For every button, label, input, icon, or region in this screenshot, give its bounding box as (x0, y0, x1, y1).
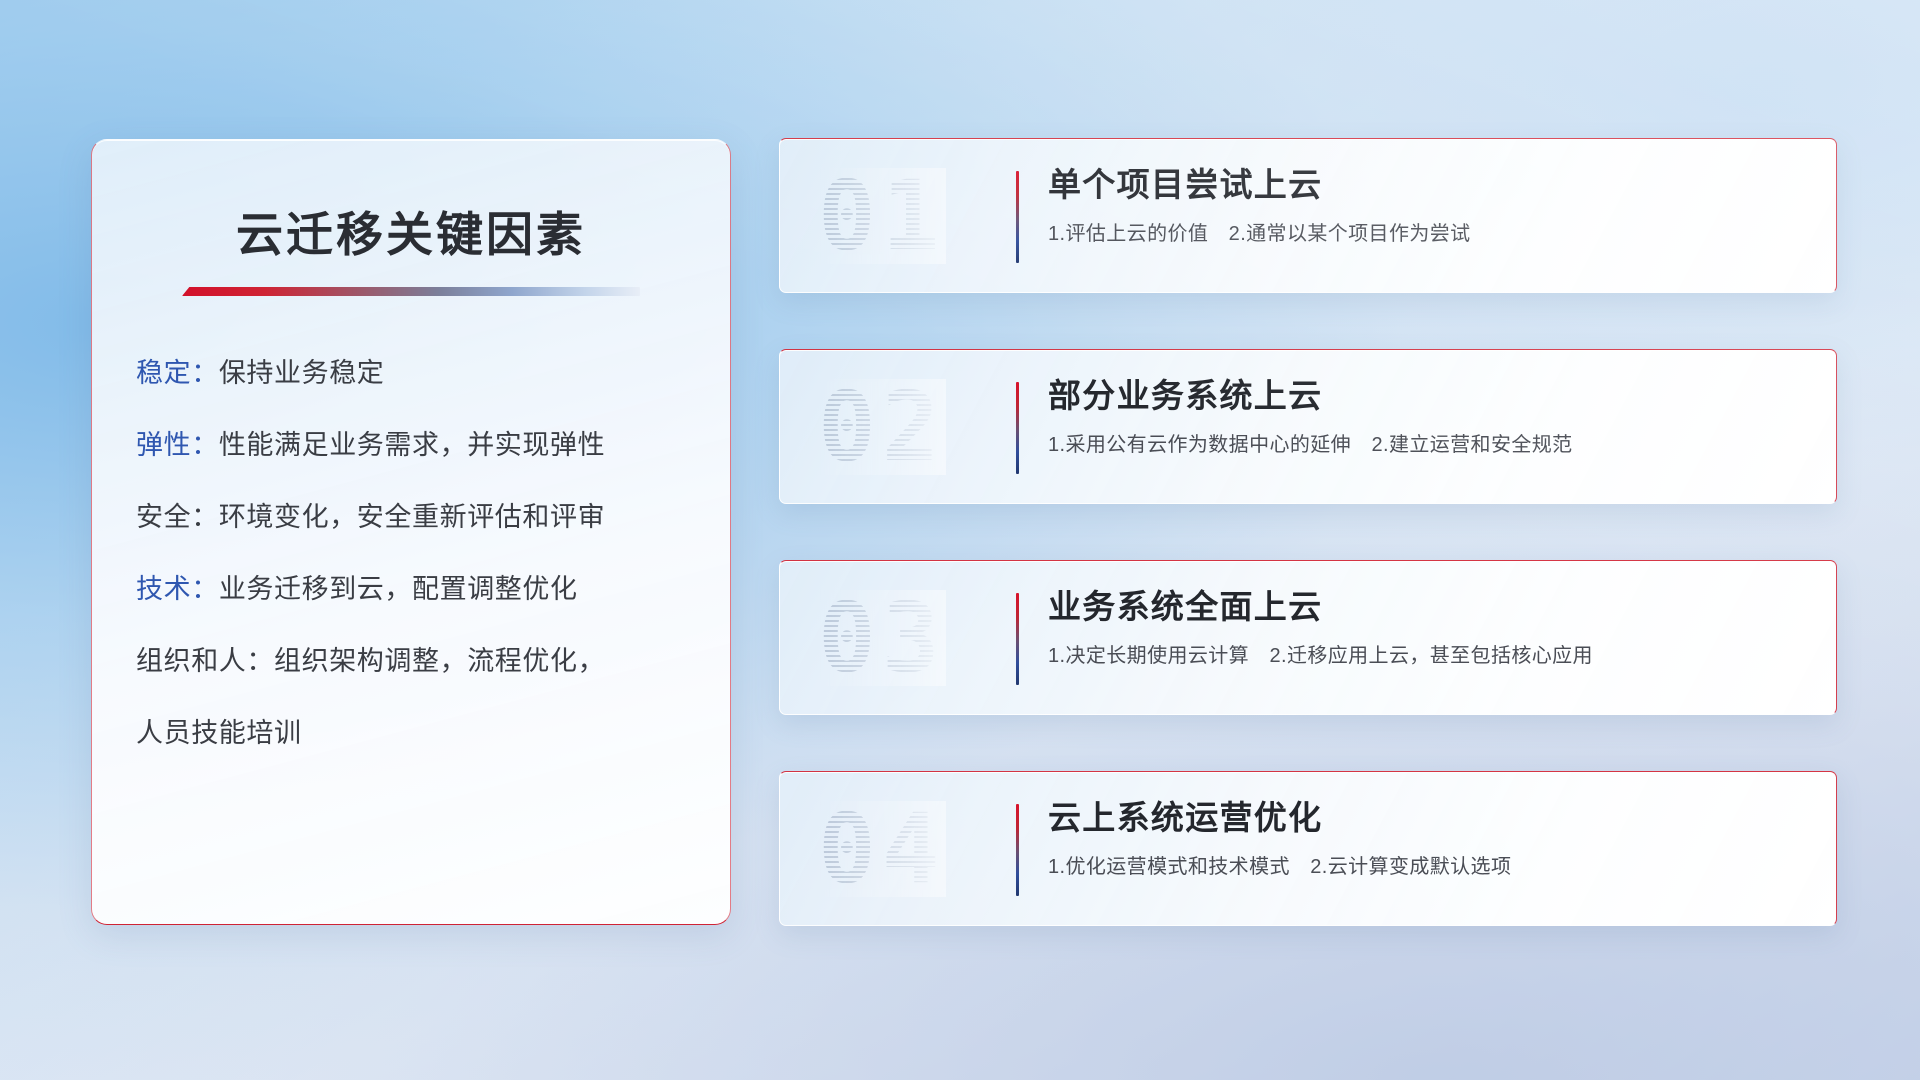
stage-title: 业务系统全面上云 (1048, 587, 1808, 628)
factor-label: 稳定： (136, 358, 219, 388)
stage-divider-bar (1016, 382, 1019, 474)
list-item: 安全：环境变化，安全重新评估和评审 (136, 504, 730, 531)
factor-label: 组织和人： (136, 646, 274, 676)
factor-label: 弹性： (136, 430, 219, 460)
stage-content: 云上系统运营优化 1.优化运营模式和技术模式 2.云计算变成默认选项 (1048, 798, 1808, 880)
migration-stages-list: 01 单个项目尝试上云 1.评估上云的价值 2.通常以某个项目作为尝试 02 部… (779, 138, 1837, 926)
stage-card-03[interactable]: 03 业务系统全面上云 1.决定长期使用云计算 2.迁移应用上云，甚至包括核心应… (779, 560, 1837, 715)
stage-title: 云上系统运营优化 (1048, 798, 1808, 839)
stage-title: 部分业务系统上云 (1048, 376, 1808, 417)
key-factors-panel: 云迁移关键因素 稳定：保持业务稳定 弹性：性能满足业务需求，并实现弹性 安全：环… (91, 139, 731, 925)
factor-label: 安全： (136, 502, 219, 532)
stage-number-04: 04 (818, 801, 946, 897)
stage-card-02[interactable]: 02 部分业务系统上云 1.采用公有云作为数据中心的延伸 2.建立运营和安全规范 (779, 349, 1837, 504)
list-item: 稳定：保持业务稳定 (136, 360, 730, 387)
stage-card-01[interactable]: 01 单个项目尝试上云 1.评估上云的价值 2.通常以某个项目作为尝试 (779, 138, 1837, 293)
factor-value: 环境变化，安全重新评估和评审 (219, 502, 605, 532)
title-underline-rule (182, 287, 640, 296)
stage-content: 部分业务系统上云 1.采用公有云作为数据中心的延伸 2.建立运营和安全规范 (1048, 376, 1808, 458)
stage-content: 业务系统全面上云 1.决定长期使用云计算 2.迁移应用上云，甚至包括核心应用 (1048, 587, 1808, 669)
factor-label: 技术： (136, 574, 219, 604)
page-title: 云迁移关键因素 (92, 196, 730, 265)
stage-points: 1.采用公有云作为数据中心的延伸 2.建立运营和安全规范 (1048, 432, 1808, 458)
factor-value: 保持业务稳定 (219, 358, 385, 388)
stage-points: 1.决定长期使用云计算 2.迁移应用上云，甚至包括核心应用 (1048, 643, 1808, 669)
stage-divider-bar (1016, 804, 1019, 896)
list-item-continuation: 人员技能培训 (136, 720, 730, 747)
stage-content: 单个项目尝试上云 1.评估上云的价值 2.通常以某个项目作为尝试 (1048, 165, 1808, 247)
list-item: 弹性：性能满足业务需求，并实现弹性 (136, 432, 730, 459)
factor-value: 组织架构调整，流程优化， (274, 646, 605, 676)
stage-number-02: 02 (818, 379, 946, 475)
factor-value: 性能满足业务需求，并实现弹性 (219, 430, 605, 460)
stage-divider-bar (1016, 171, 1019, 263)
stage-points: 1.评估上云的价值 2.通常以某个项目作为尝试 (1048, 221, 1808, 247)
factor-value: 人员技能培训 (136, 718, 302, 748)
key-factors-list: 稳定：保持业务稳定 弹性：性能满足业务需求，并实现弹性 安全：环境变化，安全重新… (136, 360, 730, 747)
stage-number-03: 03 (818, 590, 946, 686)
stage-number-01: 01 (818, 168, 946, 264)
list-item: 技术：业务迁移到云，配置调整优化 (136, 576, 730, 603)
stage-divider-bar (1016, 593, 1019, 685)
slide-canvas: 云迁移关键因素 稳定：保持业务稳定 弹性：性能满足业务需求，并实现弹性 安全：环… (0, 0, 1920, 1080)
stage-title: 单个项目尝试上云 (1048, 165, 1808, 206)
stage-points: 1.优化运营模式和技术模式 2.云计算变成默认选项 (1048, 854, 1808, 880)
factor-value: 业务迁移到云，配置调整优化 (219, 574, 578, 604)
stage-card-04[interactable]: 04 云上系统运营优化 1.优化运营模式和技术模式 2.云计算变成默认选项 (779, 771, 1837, 926)
list-item: 组织和人：组织架构调整，流程优化， (136, 648, 730, 675)
